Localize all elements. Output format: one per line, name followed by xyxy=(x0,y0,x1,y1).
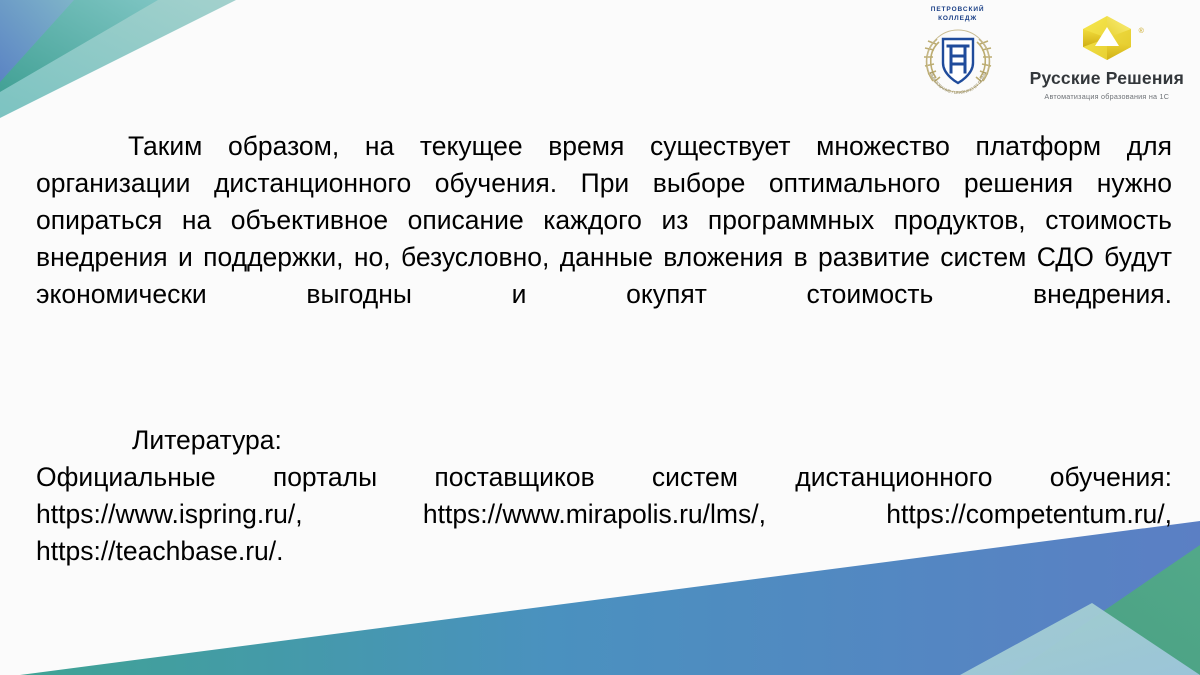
literature-references: Официальные порталы поставщиков систем д… xyxy=(36,459,1172,607)
main-paragraph: Таким образом, на текущее время существу… xyxy=(36,128,1172,350)
deco-triangle-pale xyxy=(0,0,236,118)
deco-triangle-blue xyxy=(0,0,74,82)
slide-content: Таким образом, на текущее время существу… xyxy=(36,128,1172,607)
petrovsky-shield-emblem: ОБРАЗОВАНИЕ / LEARNING BY DOING xyxy=(915,25,1001,95)
registered-mark-icon: ® xyxy=(1139,28,1144,35)
petrovsky-college-title: ПЕТРОВСКИЙКОЛЛЕДЖ xyxy=(931,6,985,24)
petrovsky-college-logo: ПЕТРОВСКИЙКОЛЛЕДЖ xyxy=(912,6,1004,95)
presentation-slide: ПЕТРОВСКИЙКОЛЛЕДЖ xyxy=(0,0,1200,675)
literature-block: Литература: Официальные порталы поставщи… xyxy=(36,422,1172,607)
petrovsky-title-line2: КОЛЛЕДЖ xyxy=(938,15,977,22)
petrovsky-title-line1: ПЕТРОВСКИЙ xyxy=(931,6,985,13)
rr-tagline: Автоматизация образования на 1С xyxy=(1044,92,1169,101)
rr-brand-name: Русские Решения xyxy=(1030,70,1184,88)
deco-triangle-pale-bottom xyxy=(960,603,1200,675)
logo-bar: ПЕТРОВСКИЙКОЛЛЕДЖ xyxy=(912,6,1184,98)
deco-triangle-teal xyxy=(0,0,158,92)
literature-heading: Литература: xyxy=(36,422,1172,459)
russkie-resheniya-logo: ® Русские Решения Автоматизация образова… xyxy=(1030,6,1184,101)
rr-mark-wrap: ® xyxy=(1079,14,1135,67)
main-paragraph-text: Таким образом, на текущее время существу… xyxy=(36,131,1172,309)
rr-hexagon-mark-icon xyxy=(1079,14,1135,62)
literature-heading-text: Литература: xyxy=(132,425,282,455)
